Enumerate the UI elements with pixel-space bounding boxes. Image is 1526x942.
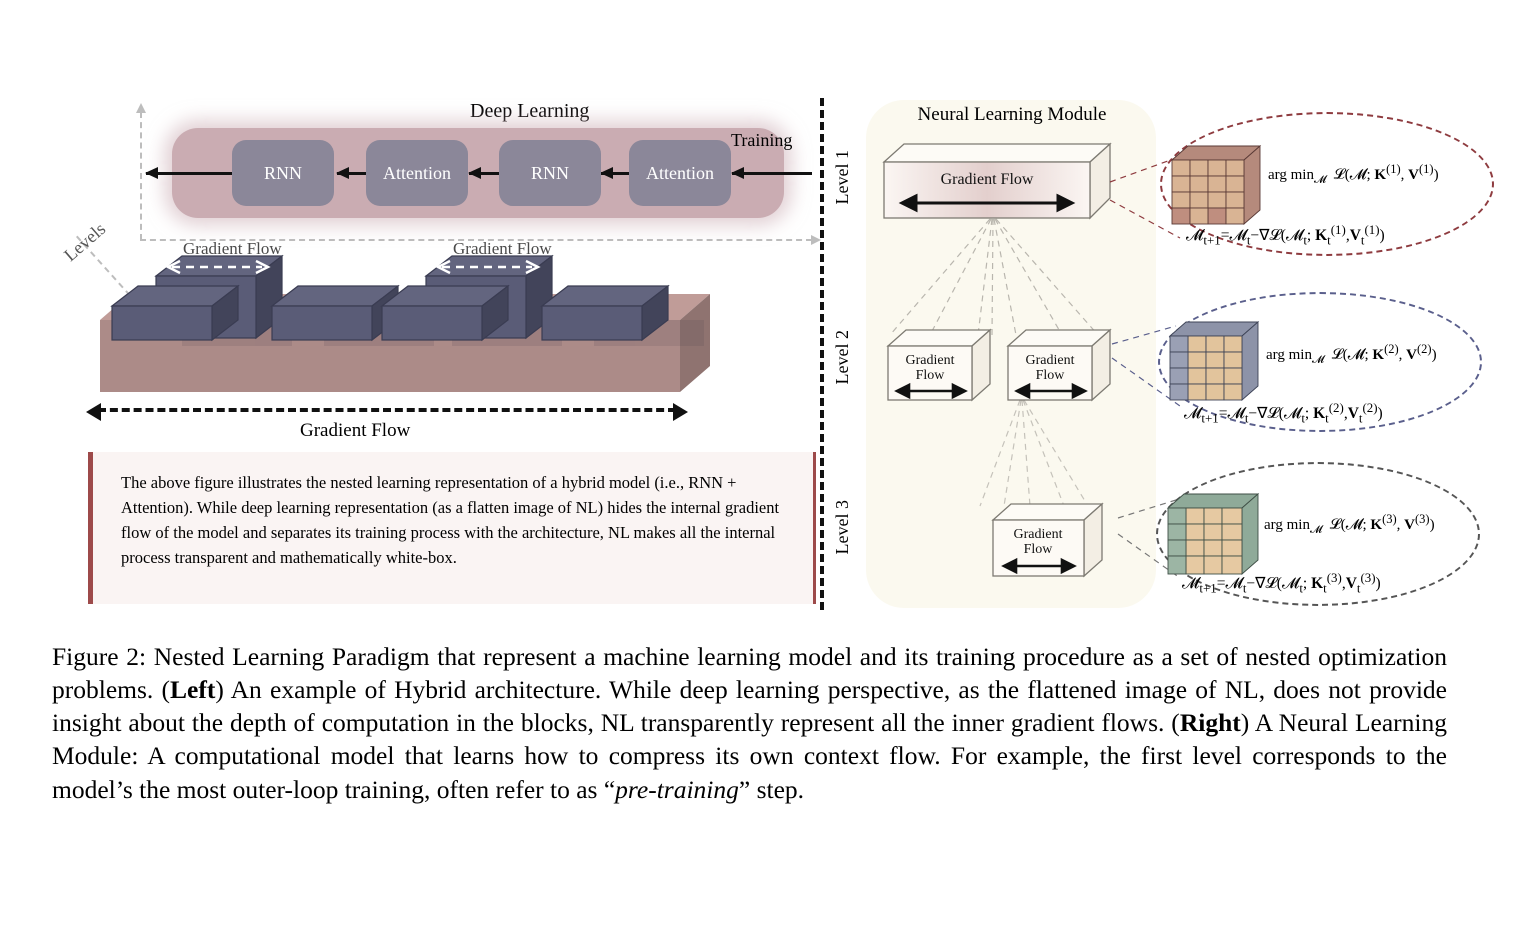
flow-arrow-3 bbox=[601, 172, 630, 175]
tensor-cube-level-1 bbox=[1158, 132, 1278, 232]
update-equation-level-1: 𝓜t+1=𝓜t−∇𝓛(𝓜t; Kt(1),Vt(1)) bbox=[1186, 222, 1385, 248]
svg-text:Flow: Flow bbox=[916, 368, 946, 383]
block-low-2b bbox=[542, 286, 668, 340]
svg-text:Flow: Flow bbox=[1036, 368, 1066, 383]
level-3-label: Level 3 bbox=[832, 500, 853, 554]
block-rnn-2: RNN bbox=[499, 140, 601, 206]
inner-gradient-flow-label-1: Gradient Flow bbox=[183, 239, 282, 259]
figure-caption: Figure 2: Nested Learning Paradigm that … bbox=[52, 640, 1447, 806]
svg-text:Gradient: Gradient bbox=[906, 353, 955, 368]
explanation-note-text: The above figure illustrates the nested … bbox=[93, 452, 813, 570]
block-low-1b bbox=[272, 286, 398, 340]
svg-text:Gradient: Gradient bbox=[1014, 527, 1063, 542]
outer-gradient-flow-arrow bbox=[98, 408, 676, 412]
level-2-gradient-flow-box-a: Gradient Flow bbox=[885, 326, 997, 410]
block-low-1a bbox=[112, 286, 238, 340]
flow-arrow-in bbox=[732, 172, 812, 175]
figure-2-diagram: Deep Learning Levels RNN Attention RNN A… bbox=[0, 0, 1526, 625]
svg-text:Gradient Flow: Gradient Flow bbox=[941, 171, 1034, 188]
objective-equation-level-1: arg min𝓜 𝓛(𝓜; K(1), V(1)) bbox=[1268, 162, 1439, 187]
tensor-cube-level-3 bbox=[1154, 482, 1276, 584]
tensor-cube-level-2 bbox=[1156, 310, 1276, 410]
neural-learning-module-title: Neural Learning Module bbox=[892, 104, 1132, 126]
block-attention-1: Attention bbox=[366, 140, 468, 206]
objective-equation-level-3: arg min𝓜 𝓛(𝓜; K(3), V(3)) bbox=[1264, 512, 1435, 537]
explanation-note-box: The above figure illustrates the nested … bbox=[88, 452, 816, 604]
flow-arrow-out bbox=[146, 172, 232, 175]
level-1-label: Level 1 bbox=[832, 150, 853, 204]
caption-bold-left: Left bbox=[170, 675, 215, 704]
caption-italic-pretraining: pre-training bbox=[615, 775, 739, 804]
panel-divider bbox=[820, 98, 824, 610]
flow-arrow-1 bbox=[337, 172, 367, 175]
svg-text:Flow: Flow bbox=[1024, 542, 1054, 557]
caption-label: Figure 2: bbox=[52, 642, 146, 671]
inner-gradient-flow-label-2: Gradient Flow bbox=[453, 239, 552, 259]
deep-learning-title: Deep Learning bbox=[470, 100, 589, 123]
block-low-2a bbox=[382, 286, 508, 340]
caption-part-4: ” step. bbox=[739, 775, 804, 804]
svg-text:Gradient: Gradient bbox=[1026, 353, 1075, 368]
caption-bold-right: Right bbox=[1180, 708, 1241, 737]
block-attention-2: Attention bbox=[629, 140, 731, 206]
training-label: Training bbox=[731, 130, 792, 151]
flow-arrow-2 bbox=[469, 172, 500, 175]
block-rnn-1: RNN bbox=[232, 140, 334, 206]
outer-gradient-flow-label: Gradient Flow bbox=[300, 420, 410, 442]
objective-equation-level-2: arg min𝓜 𝓛(𝓜; K(2), V(2)) bbox=[1266, 342, 1437, 367]
level-2-label: Level 2 bbox=[832, 330, 853, 384]
update-equation-level-3: 𝓜t+1=𝓜t−∇𝓛(𝓜t; Kt(3),Vt(3)) bbox=[1182, 570, 1381, 596]
update-equation-level-2: 𝓜t+1=𝓜t−∇𝓛(𝓜t; Kt(2),Vt(2)) bbox=[1184, 400, 1383, 426]
nested-blocks-3d bbox=[96, 248, 721, 358]
levels-axis-vertical bbox=[140, 112, 142, 240]
